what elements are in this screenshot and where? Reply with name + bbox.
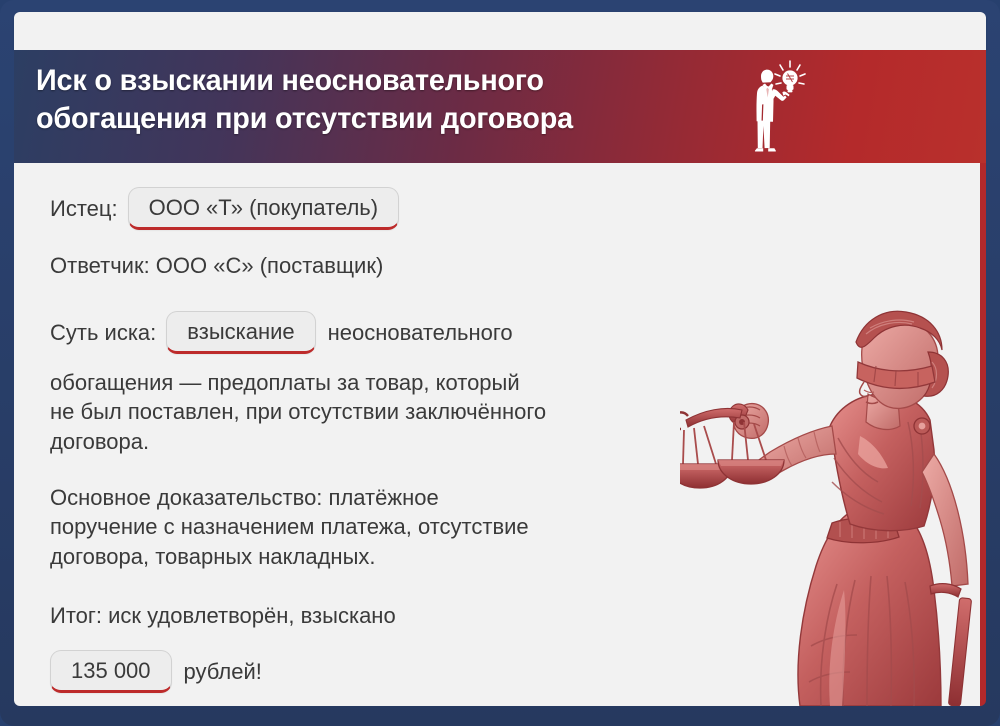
claim-body-paragraph: обогащения — предоплаты за товар, которы… [50, 368, 710, 456]
header-banner: Иск о взыскании неосновательного обогаще… [14, 50, 986, 163]
amount-chip[interactable]: 135 000 [50, 650, 172, 693]
claim-chip[interactable]: взыскание [166, 311, 315, 354]
result-label: Итог: иск удовлетворён, взыскано [50, 605, 396, 627]
claim-label: Суть иска: [50, 322, 156, 344]
lady-justice-icon [680, 286, 980, 706]
plaintiff-row: Истец: ООО «Т» (покупатель) [50, 187, 399, 230]
defendant-label: Ответчик: ООО «С» (поставщик) [50, 255, 383, 277]
result-row: Итог: иск удовлетворён, взыскано [50, 605, 396, 627]
top-strip [14, 12, 986, 50]
slide-root: Иск о взыскании неосновательного обогаще… [0, 0, 1000, 726]
amount-unit-label: рублей! [184, 661, 262, 683]
plaintiff-chip[interactable]: ООО «Т» (покупатель) [128, 187, 399, 230]
claim-row: Суть иска: взыскание неосновательного [50, 311, 513, 354]
defendant-row: Ответчик: ООО «С» (поставщик) [50, 255, 383, 277]
content-panel: Истец: ООО «Т» (покупатель) Ответчик: ОО… [14, 163, 986, 706]
amount-row: 135 000 рублей! [50, 650, 262, 693]
claim-tail-text: неосновательного [328, 322, 513, 344]
evidence-paragraph: Основное доказательство: платёжное поруч… [50, 483, 710, 571]
page-title: Иск о взыскании неосновательного обогаще… [36, 62, 766, 138]
plaintiff-label: Истец: [50, 198, 118, 220]
businessman-idea-icon [734, 58, 824, 158]
